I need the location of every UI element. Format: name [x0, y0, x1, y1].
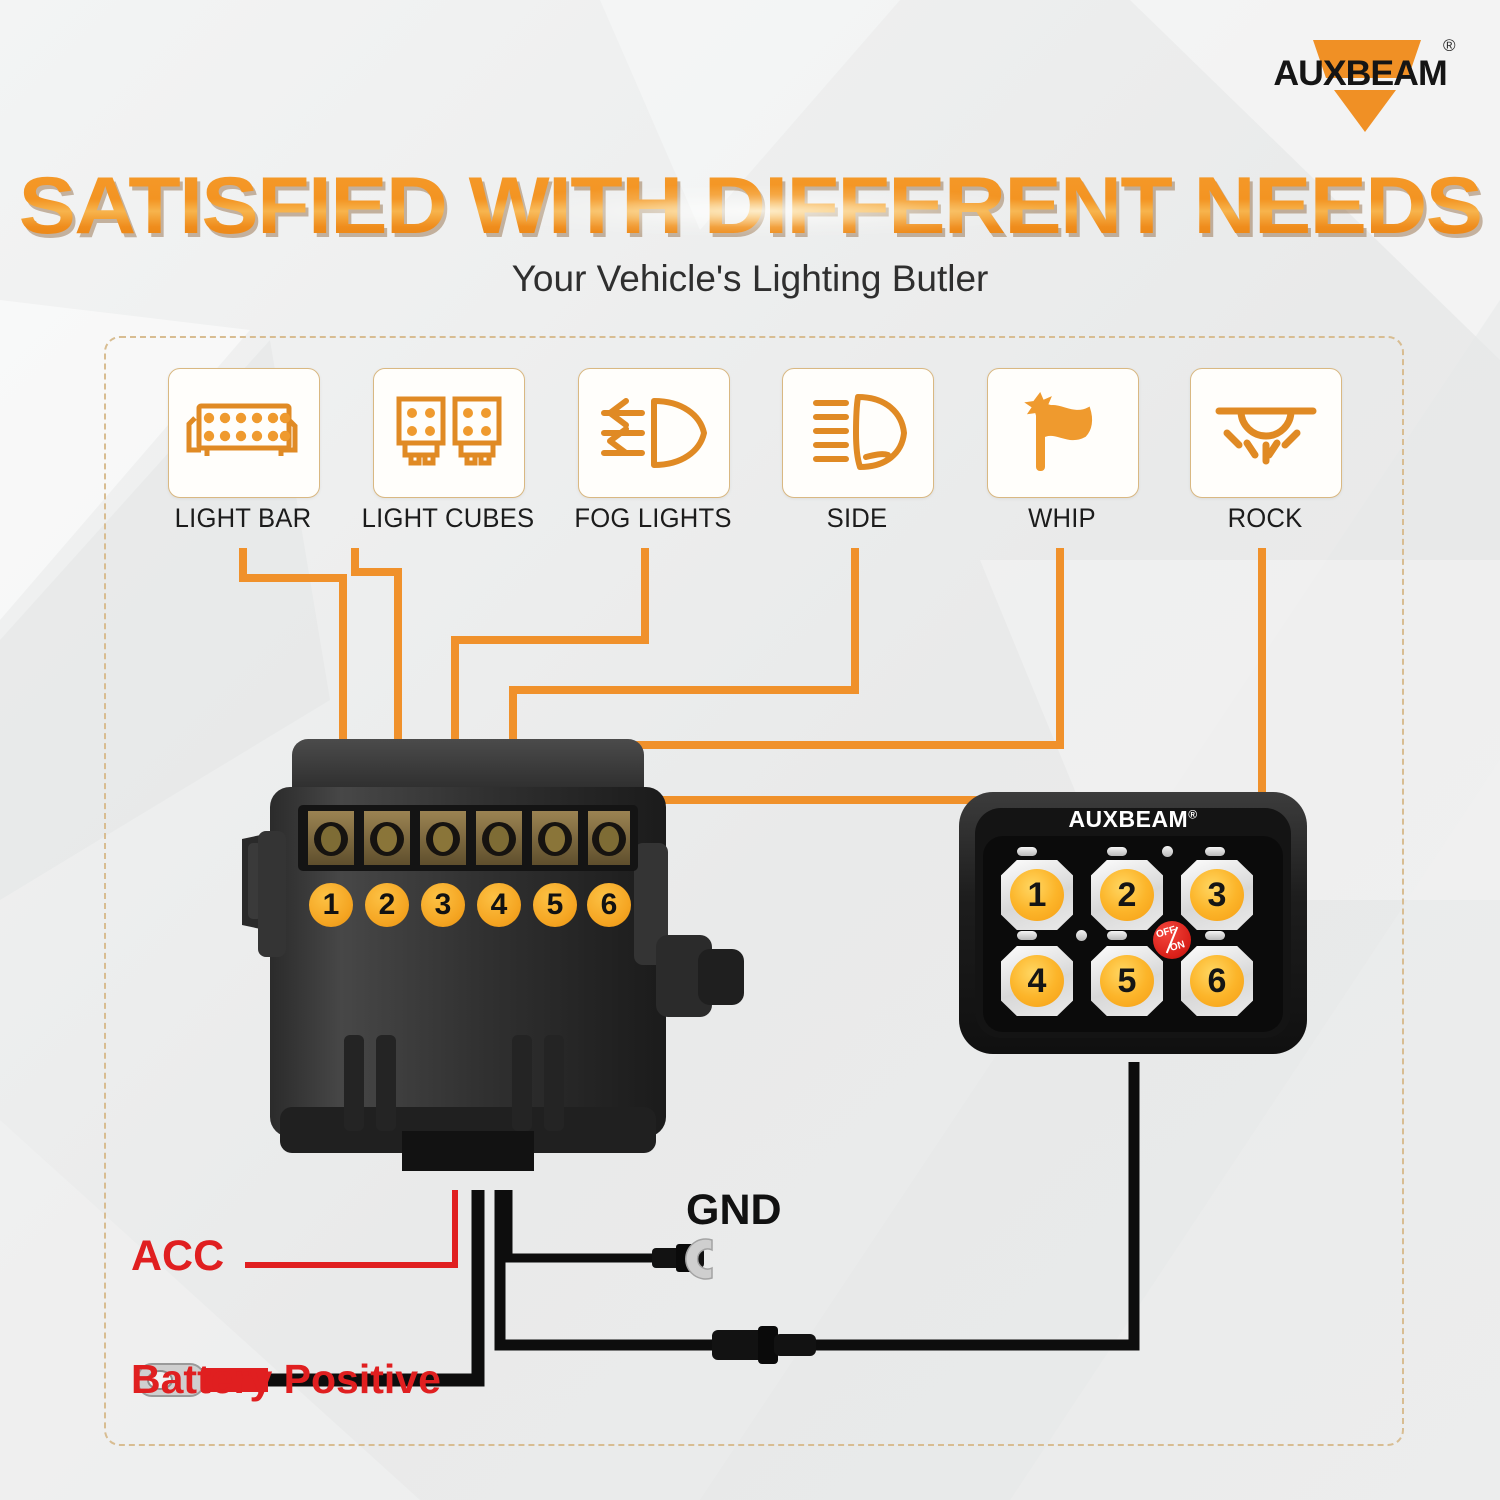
registered-mark-icon: ® [1443, 36, 1456, 56]
logo-triangle [1334, 90, 1396, 132]
logo-wordmark: AUXBEAM [1253, 54, 1467, 94]
battery-positive-label: Battery Positive [131, 1356, 441, 1403]
acc-wire-label: ACC [131, 1232, 224, 1281]
gnd-wire-label: GND [686, 1186, 782, 1235]
auxbeam-logo: AUXBEAM ® [1255, 18, 1470, 126]
power-wiring [0, 0, 1500, 1500]
